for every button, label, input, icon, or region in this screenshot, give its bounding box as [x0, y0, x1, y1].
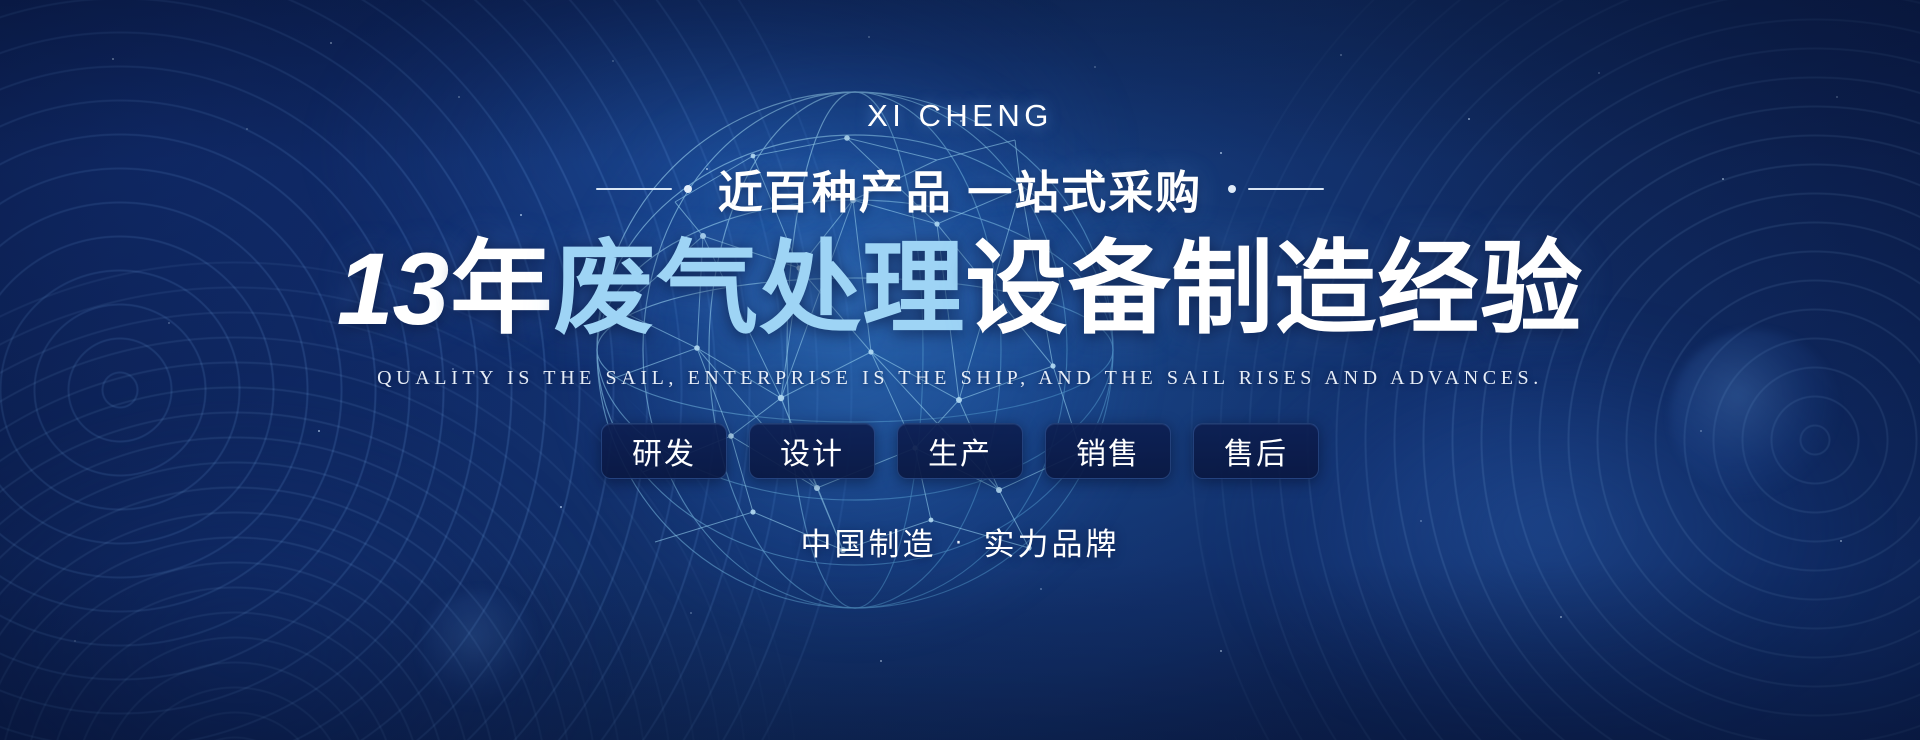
chip-design[interactable]: 设计: [749, 423, 875, 479]
headline-number: 13: [337, 232, 450, 346]
hero-banner: XI CHENG 近百种产品 一站式采购 13年废气处理设备制造经验 QUALI…: [0, 0, 1920, 740]
footer-slogan-left: 中国制造: [801, 519, 937, 564]
service-chip-row: 研发 设计 生产 销售 售后: [601, 423, 1319, 479]
headline-tail: 设备制造经验: [965, 232, 1583, 346]
main-headline: 13年废气处理设备制造经验: [337, 227, 1583, 351]
decorative-line-left: [596, 185, 692, 193]
chip-sales[interactable]: 销售: [1045, 423, 1171, 479]
decorative-dot-right: [1228, 185, 1236, 193]
subheadline-row: 近百种产品 一站式采购: [596, 156, 1325, 221]
chip-after-sales[interactable]: 售后: [1193, 423, 1319, 479]
headline-highlight: 废气处理: [553, 232, 965, 346]
decorative-line-right: [1228, 185, 1324, 193]
decorative-dash-left: [596, 188, 672, 190]
footer-slogan: 中国制造 · 实力品牌: [801, 519, 1120, 564]
headline-unit: 年: [450, 232, 553, 346]
decorative-dash-right: [1248, 188, 1324, 190]
decorative-dot-left: [684, 185, 692, 193]
brand-name-english: XI CHENG: [867, 98, 1053, 134]
banner-content: XI CHENG 近百种产品 一站式采购 13年废气处理设备制造经验 QUALI…: [0, 0, 1920, 740]
subheadline-text: 近百种产品 一站式采购: [718, 156, 1203, 221]
footer-slogan-right: 实力品牌: [984, 519, 1120, 564]
chip-production[interactable]: 生产: [897, 423, 1023, 479]
chip-rnd[interactable]: 研发: [601, 423, 727, 479]
english-tagline: QUALITY IS THE SAIL, ENTERPRISE IS THE S…: [377, 367, 1543, 390]
footer-separator-dot: ·: [955, 528, 966, 556]
